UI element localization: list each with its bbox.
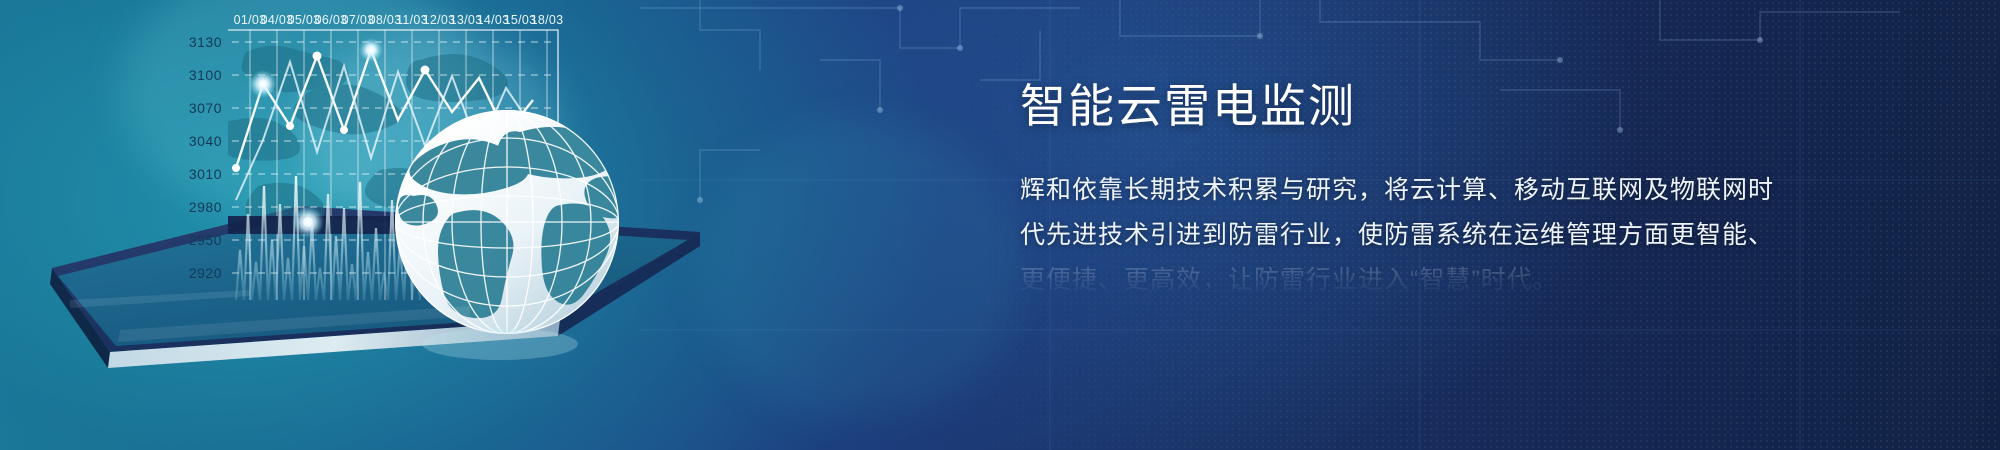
ytick-label: 3100: [189, 67, 222, 83]
ytick-label: 3010: [189, 166, 222, 182]
ytick-label: 3130: [189, 34, 222, 50]
xtick-label: 18/03: [531, 13, 564, 27]
description-line-1: 辉和依靠长期技术积累与研究，将云计算、移动互联网及物联网时: [1020, 168, 1980, 213]
description-line-3: 更便捷、更高效，让防雷行业进入“智慧”时代。: [1020, 258, 1980, 303]
chart-x-axis: 01/03 04/03 05/03 06/03 07/03 08/03 11/0…: [234, 13, 564, 27]
ytick-label: 2950: [189, 232, 222, 248]
globe-graticule: [395, 110, 619, 334]
banner-description: 辉和依靠长期技术积累与研究，将云计算、移动互联网及物联网时 代先进技术引进到防雷…: [1020, 168, 1980, 303]
ytick-label: 3070: [189, 100, 222, 116]
tablet-chart-illustration: 3130 3100 3070 3040 3010 2980 2950 2920 …: [0, 0, 760, 450]
description-line-2: 代先进技术引进到防雷行业，使防雷系统在运维管理方面更智能、: [1020, 213, 1980, 258]
banner-text-block: 智能云雷电监测 辉和依靠长期技术积累与研究，将云计算、移动互联网及物联网时 代先…: [1020, 78, 1980, 303]
ytick-label: 2920: [189, 265, 222, 281]
chart-y-axis: 3130 3100 3070 3040 3010 2980 2950 2920: [189, 34, 222, 281]
ytick-label: 3040: [189, 133, 222, 149]
ytick-label: 2980: [189, 199, 222, 215]
banner-title: 智能云雷电监测: [1020, 78, 1980, 136]
globe-reflection: [422, 328, 578, 360]
promo-banner: 3130 3100 3070 3040 3010 2980 2950 2920 …: [0, 0, 2000, 450]
